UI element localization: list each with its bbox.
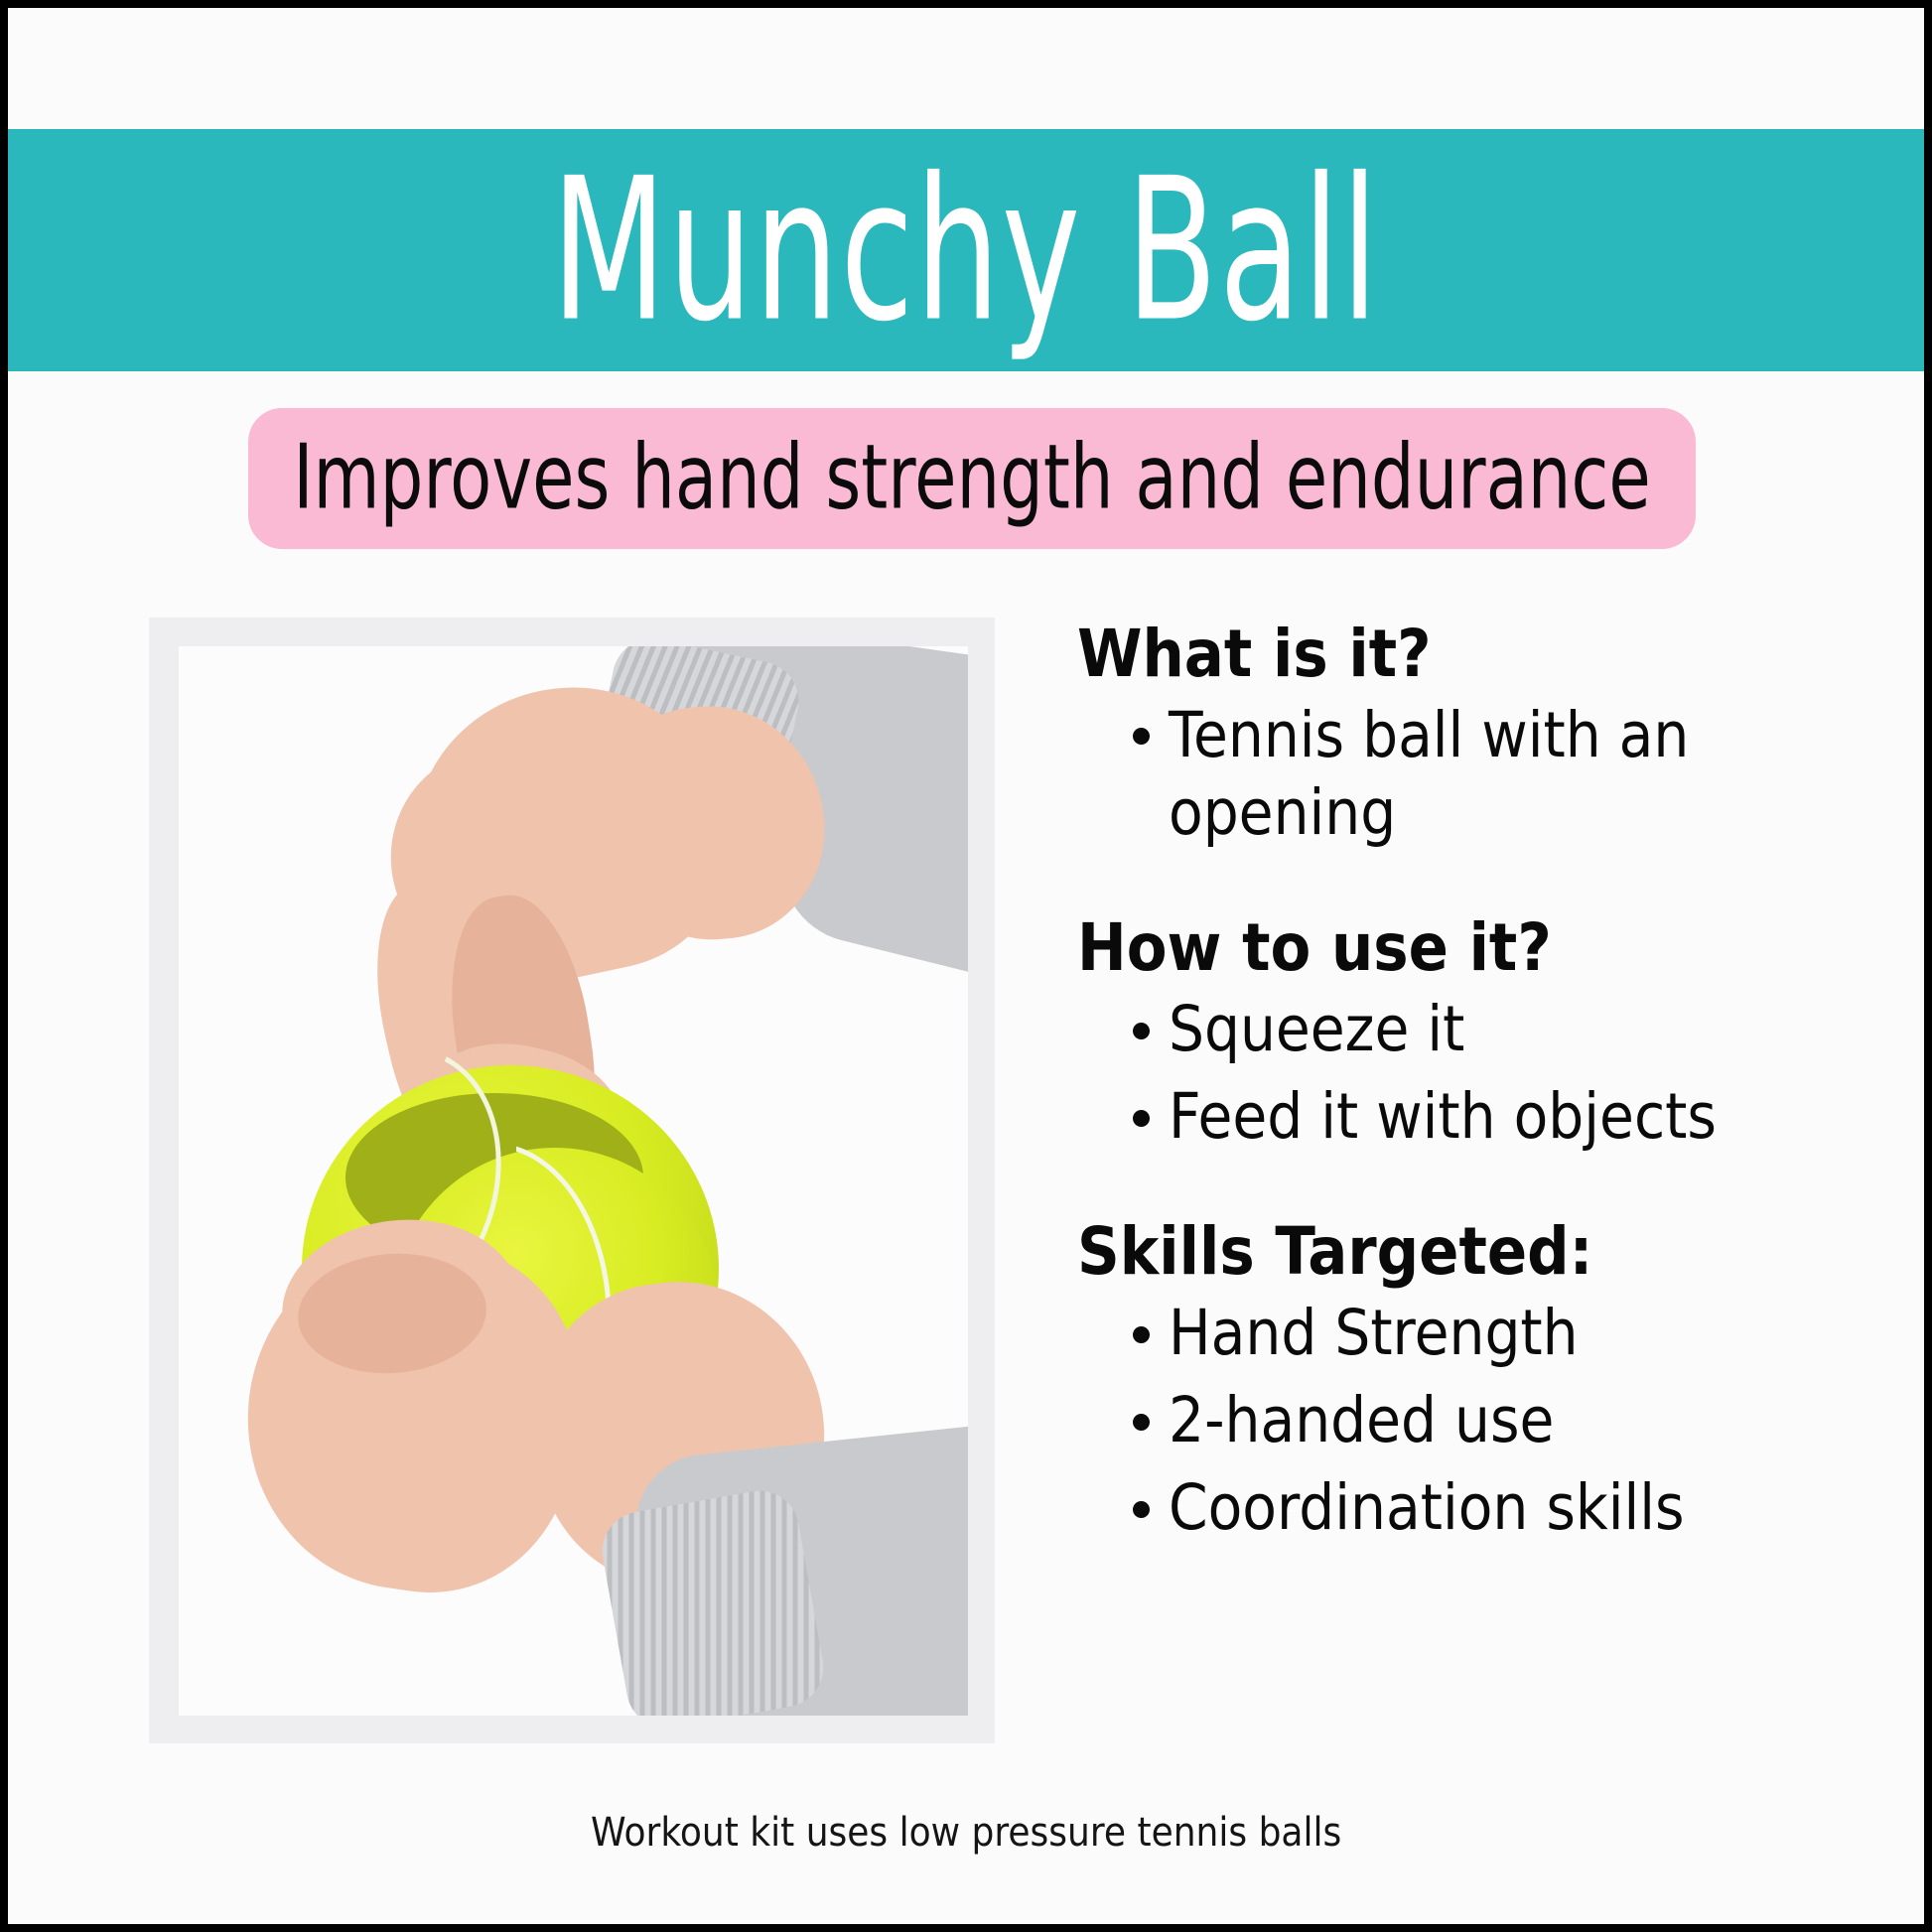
subtitle-text: Improves hand strength and endurance (293, 434, 1650, 523)
section-heading: How to use it? (1077, 911, 1801, 985)
poster-outer-border: Munchy Ball Improves hand strength and e… (0, 0, 1932, 1932)
list-item: 2-handed use (1077, 1382, 1881, 1459)
list-item-label: Coordination skills (1169, 1469, 1880, 1547)
product-photo (179, 646, 968, 1716)
list-item-label: Feed it with objects (1169, 1078, 1880, 1156)
list-item-label: Tennis ball with an opening (1169, 697, 1880, 852)
section-how-to-use-it: How to use it? Squeeze it Feed it with o… (1077, 911, 1881, 1156)
section-skills-targeted: Skills Targeted: Hand Strength 2-handed … (1077, 1215, 1881, 1547)
bullet-dot-icon (1133, 728, 1150, 745)
bullet-list: Tennis ball with an opening (1077, 697, 1881, 852)
list-item-label: Squeeze it (1169, 991, 1880, 1068)
bullet-list: Hand Strength 2-handed use Coordination … (1077, 1295, 1881, 1547)
footer-caption: Workout kit uses low pressure tennis bal… (8, 1813, 1924, 1853)
list-item: Hand Strength (1077, 1295, 1881, 1372)
bullet-dot-icon (1133, 1023, 1150, 1039)
page-title: Munchy Ball (552, 152, 1381, 348)
list-item: Tennis ball with an opening (1077, 697, 1881, 852)
bullet-list: Squeeze it Feed it with objects (1077, 991, 1881, 1156)
list-item: Coordination skills (1077, 1469, 1881, 1547)
section-heading: What is it? (1077, 618, 1801, 691)
subtitle-banner: Improves hand strength and endurance (248, 408, 1696, 549)
poster-canvas: Munchy Ball Improves hand strength and e… (8, 8, 1924, 1924)
photo-frame (149, 618, 995, 1743)
sleeve-lower-cuff (596, 1484, 829, 1716)
bullet-dot-icon (1133, 1414, 1150, 1431)
bullet-dot-icon (1133, 1501, 1150, 1518)
content-column: What is it? Tennis ball with an opening … (1077, 618, 1881, 1557)
list-item: Feed it with objects (1077, 1078, 1881, 1156)
section-heading: Skills Targeted: (1077, 1215, 1801, 1289)
title-band: Munchy Ball (8, 129, 1924, 371)
list-item-label: 2-handed use (1169, 1382, 1880, 1459)
bullet-dot-icon (1133, 1326, 1150, 1343)
list-item: Squeeze it (1077, 991, 1881, 1068)
list-item-label: Hand Strength (1169, 1295, 1880, 1372)
section-what-is-it: What is it? Tennis ball with an opening (1077, 618, 1881, 852)
bullet-dot-icon (1133, 1110, 1150, 1127)
footer-caption-label: Workout kit uses low pressure tennis bal… (591, 1813, 1341, 1853)
